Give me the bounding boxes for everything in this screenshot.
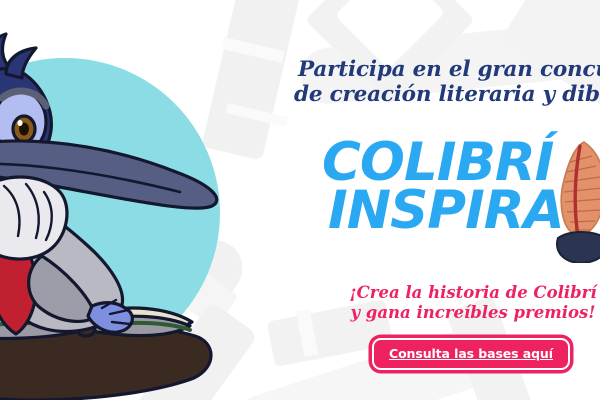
page-title: Participa en el gran concurso de creació…	[298, 57, 600, 107]
logo-line-inspira: INSPIRA	[328, 184, 600, 238]
headline-line-1: Participa en el gran concurso	[298, 57, 600, 82]
event-logo: COLIBRÍ INSPIRA	[322, 136, 600, 256]
content-column: Participa en el gran concurso de creació…	[292, 0, 600, 400]
promo-banner: Participa en el gran concurso de creació…	[0, 0, 600, 400]
tagline: ¡Crea la historia de Colibrí y gana incr…	[338, 283, 600, 322]
crayon-tip-watermark-icon	[224, 0, 284, 1]
tagline-line-2: y gana increíbles premios!	[338, 303, 600, 323]
hummingbird-mascot-icon	[0, 20, 270, 400]
tagline-line-1: ¡Crea la historia de Colibrí	[349, 283, 596, 302]
headline-line-2: de creación literaria y dibujo	[294, 82, 600, 107]
consulta-bases-button[interactable]: Consulta las bases aquí	[372, 338, 570, 370]
cta-container: Consulta las bases aquí	[372, 338, 570, 370]
